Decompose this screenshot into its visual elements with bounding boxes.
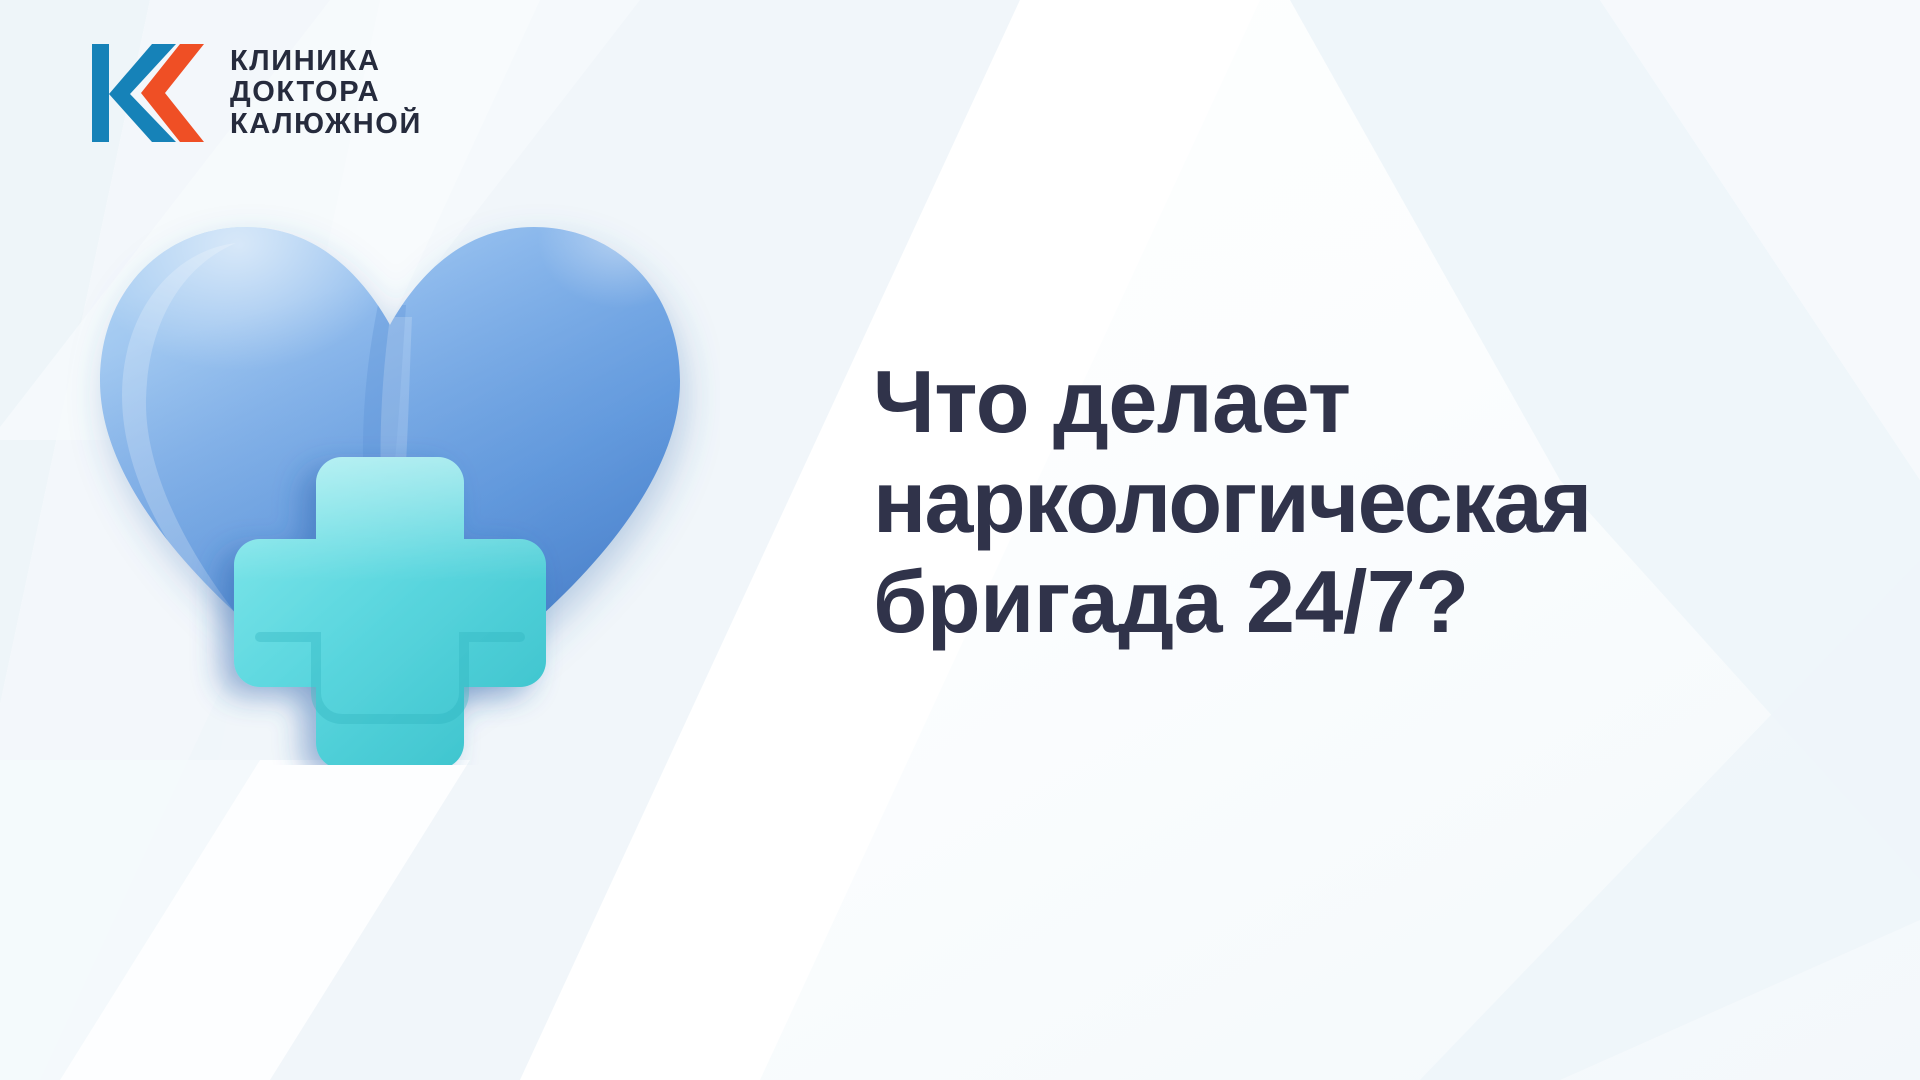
headline-line-1: Что делает [873, 352, 1733, 452]
heart-illustration [60, 185, 720, 765]
brand-logo-text: КЛИНИКА ДОКТОРА КАЛЮЖНОЙ [230, 46, 422, 139]
heart-with-cross-icon [60, 185, 720, 765]
headline-line-2: наркологическая [873, 452, 1733, 552]
brand-logo[interactable]: КЛИНИКА ДОКТОРА КАЛЮЖНОЙ [88, 38, 422, 148]
headline-line-3: бригада 24/7? [873, 552, 1733, 652]
kk-chevron-logo-icon [88, 38, 212, 148]
logo-line-2: ДОКТОРА [230, 77, 422, 108]
promo-banner: КЛИНИКА ДОКТОРА КАЛЮЖНОЙ [0, 0, 1920, 1080]
page-title: Что делает наркологическая бригада 24/7? [873, 352, 1733, 652]
logo-line-1: КЛИНИКА [230, 46, 422, 77]
logo-line-3: КАЛЮЖНОЙ [230, 109, 422, 140]
